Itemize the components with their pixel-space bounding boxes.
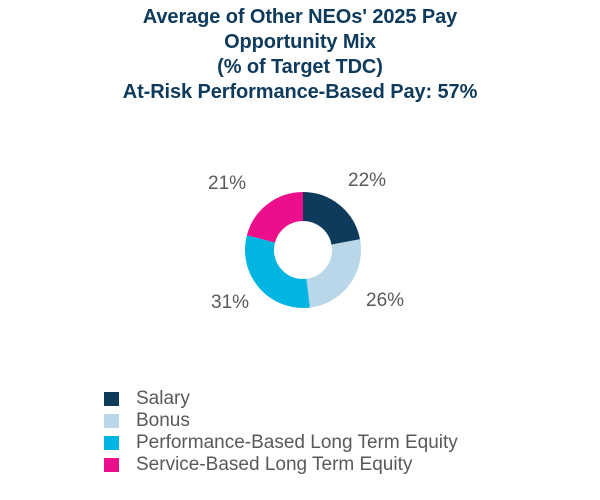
donut-svg: [245, 192, 361, 308]
legend-label-bonus: Bonus: [136, 410, 190, 432]
chart-title-line-1: Average of Other NEOs' 2025 Pay: [0, 5, 600, 30]
legend-label-salary: Salary: [136, 388, 190, 410]
legend-label-performance-equity: Performance-Based Long Term Equity: [136, 432, 458, 454]
legend-label-service-equity: Service-Based Long Term Equity: [136, 454, 412, 476]
legend-item-performance-equity[interactable]: Performance-Based Long Term Equity: [104, 432, 564, 454]
data-label-performance-equity: 31%: [211, 292, 249, 314]
data-label-service-equity: 21%: [208, 173, 246, 195]
legend-swatch-performance-equity: [104, 436, 119, 450]
chart-legend: Salary Bonus Performance-Based Long Term…: [104, 388, 564, 476]
legend-item-bonus[interactable]: Bonus: [104, 410, 564, 432]
legend-item-service-equity[interactable]: Service-Based Long Term Equity: [104, 454, 564, 476]
chart-title: Average of Other NEOs' 2025 Pay Opportun…: [0, 5, 600, 105]
legend-swatch-salary: [104, 392, 119, 406]
pay-mix-donut-chart: Average of Other NEOs' 2025 Pay Opportun…: [0, 0, 600, 500]
data-label-bonus: 26%: [366, 290, 404, 312]
chart-title-line-3: (% of Target TDC): [0, 55, 600, 80]
legend-item-salary[interactable]: Salary: [104, 388, 564, 410]
legend-swatch-bonus: [104, 414, 119, 428]
donut-segments: [260, 207, 347, 294]
legend-swatch-service-equity: [104, 458, 119, 472]
data-label-salary: 22%: [348, 170, 386, 192]
donut-graphic: [245, 192, 361, 308]
chart-title-line-4: At-Risk Performance-Based Pay: 57%: [0, 80, 600, 105]
chart-title-line-2: Opportunity Mix: [0, 30, 600, 55]
